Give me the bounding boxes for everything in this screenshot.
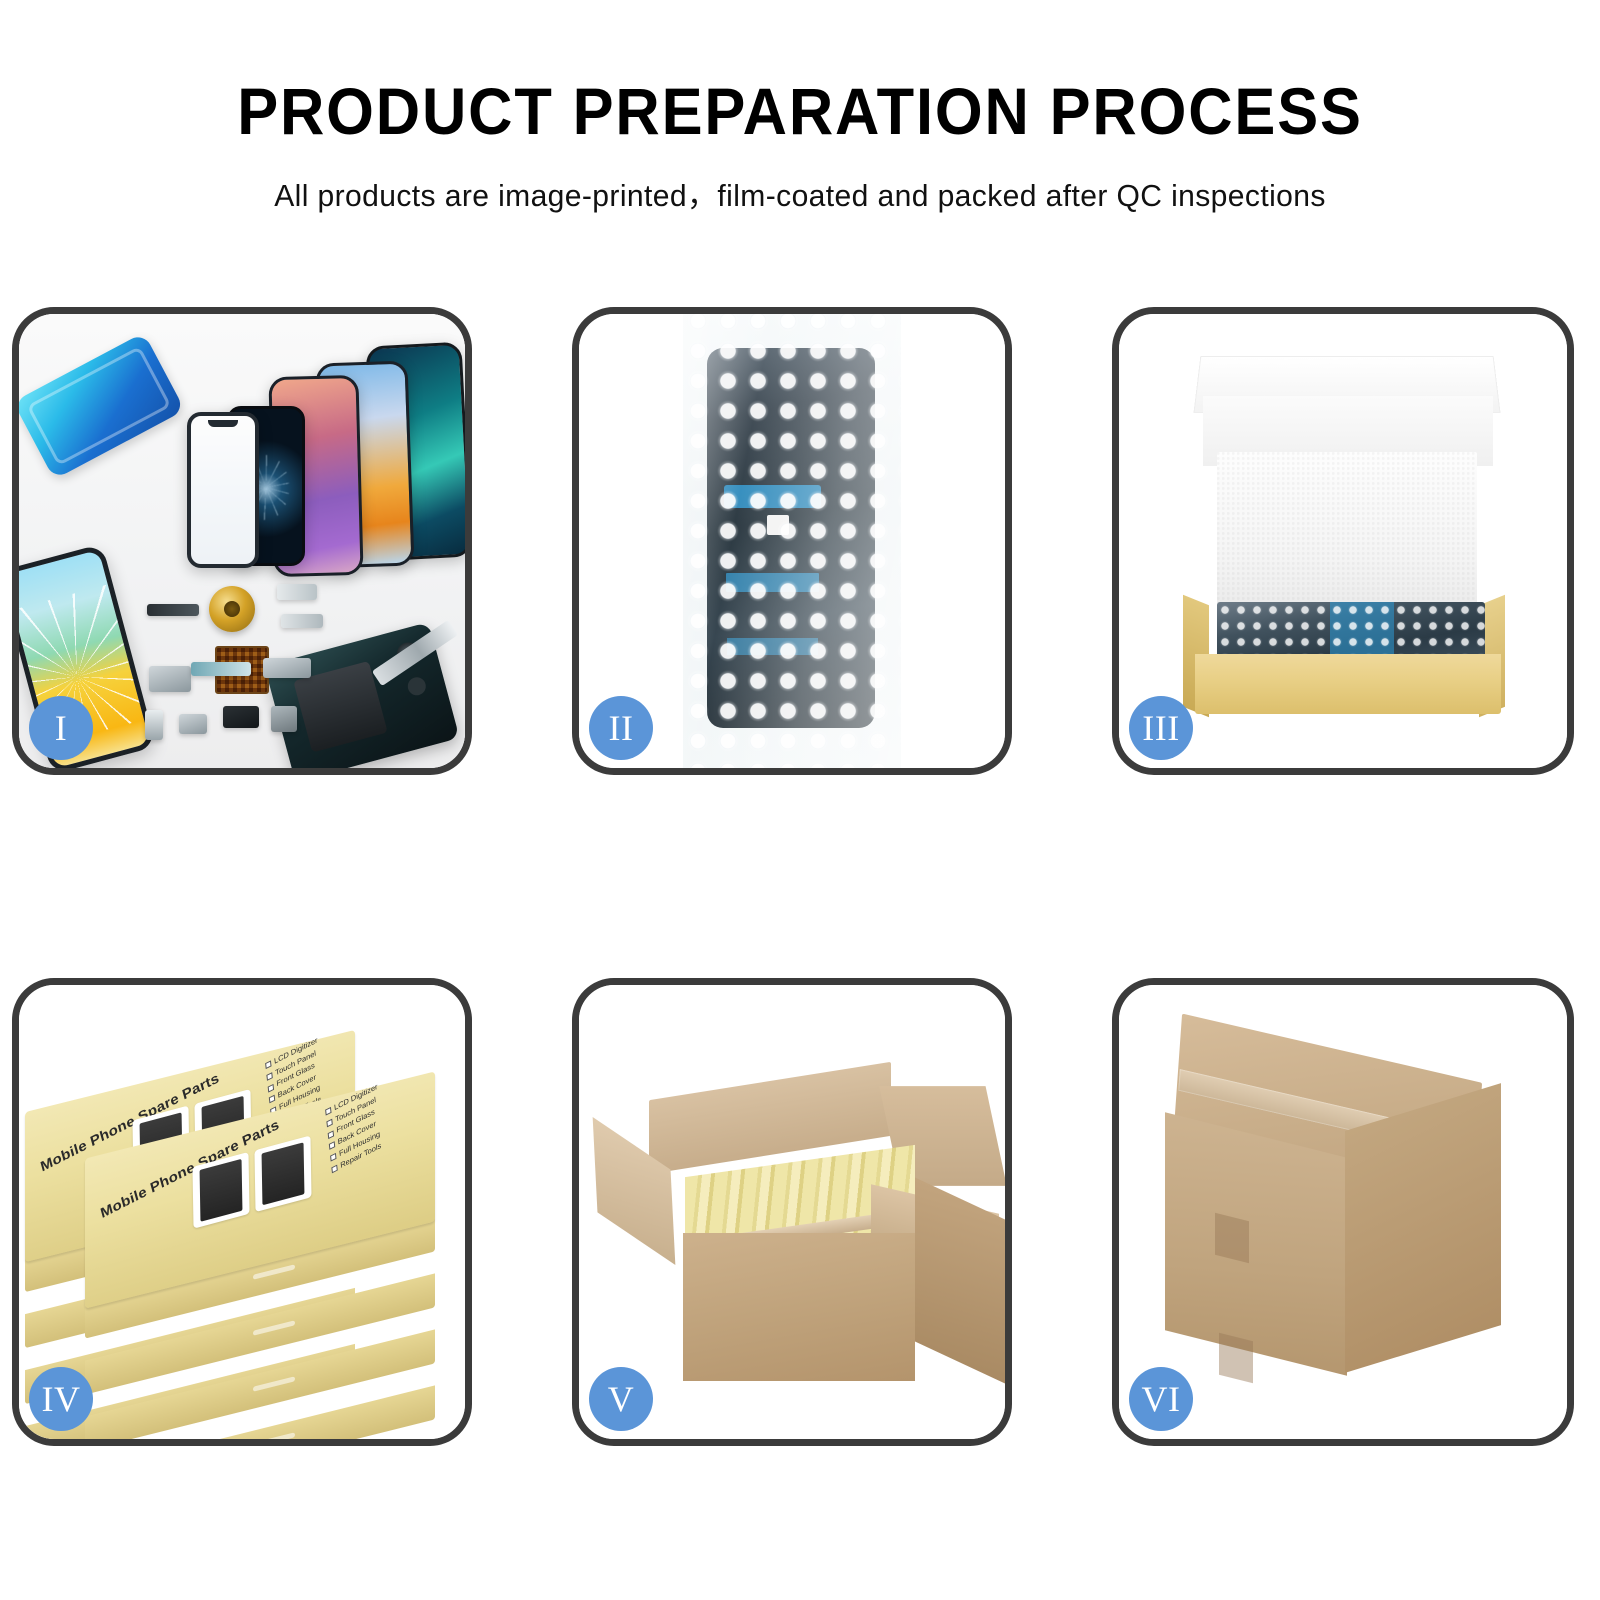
- stacked-retail-boxes-photo: Mobile Phone Spare Parts LCD Digitizer T…: [19, 985, 465, 1439]
- box-front-wall: [1195, 654, 1501, 714]
- step-badge-1: I: [29, 696, 93, 760]
- retail-box-checklist: LCD Digitizer Touch Panel Front Glass Ba…: [325, 1083, 385, 1178]
- sim-tray-part: [145, 710, 163, 740]
- step-badge-3: III: [1129, 696, 1193, 760]
- sealed-carton-side-face: [1345, 1083, 1501, 1373]
- carton-handle-tab: [1215, 1213, 1249, 1263]
- bubble-wrap-package: [683, 314, 901, 768]
- earpiece-speaker-part: [147, 604, 199, 616]
- sealed-carton-front-face: [1165, 1112, 1347, 1375]
- camera-module-part: [223, 706, 259, 728]
- steps-grid: I II: [12, 307, 1588, 1452]
- product-photo-thumbnail: [254, 1135, 311, 1212]
- phone-parts-photo: [19, 314, 465, 768]
- sealed-shipping-carton-photo: [1119, 985, 1567, 1439]
- antenna-flex-part: [191, 662, 251, 676]
- checkbox-icon: [326, 1119, 332, 1128]
- button-flex-part: [277, 584, 317, 600]
- blue-part-highlight: [1330, 602, 1394, 658]
- product-preparation-process-page: PRODUCT PREPARATION PROCESS All products…: [0, 0, 1600, 1600]
- checkbox-icon: [325, 1107, 331, 1116]
- carton-front-face: [683, 1233, 915, 1381]
- step-badge-2: II: [589, 696, 653, 760]
- bubble-wrap-photo: [579, 314, 1005, 768]
- step-card-4[interactable]: Mobile Phone Spare Parts LCD Digitizer T…: [12, 978, 472, 1446]
- volume-flex-part: [281, 614, 323, 628]
- wireless-charging-coil: [209, 586, 255, 632]
- step-badge-6: VI: [1129, 1367, 1193, 1431]
- retail-box-product-photos: [192, 1134, 317, 1229]
- header: PRODUCT PREPARATION PROCESS All products…: [0, 0, 1600, 215]
- page-subtitle: All products are image-printed，film-coat…: [24, 170, 1576, 215]
- step-card-2[interactable]: II: [572, 307, 1012, 775]
- page-title: PRODUCT PREPARATION PROCESS: [56, 78, 1544, 144]
- connector-part: [263, 658, 311, 678]
- open-retail-box-photo: [1119, 314, 1567, 768]
- step-badge-5: V: [589, 1367, 653, 1431]
- checkbox-icon: [330, 1153, 336, 1162]
- checkbox-icon: [328, 1130, 334, 1139]
- carton-handle-tab: [1219, 1333, 1253, 1383]
- speaker-module-part: [271, 706, 297, 732]
- plastic-sheen: [683, 314, 901, 768]
- vibrator-part: [179, 714, 207, 734]
- step-card-1[interactable]: I: [12, 307, 472, 775]
- step-card-3[interactable]: III: [1112, 307, 1574, 775]
- screen-protector-glass: [187, 412, 259, 568]
- flex-cable-part: [149, 666, 191, 692]
- product-photo-thumbnail: [192, 1152, 249, 1229]
- step-card-6[interactable]: VI: [1112, 978, 1574, 1446]
- checkbox-icon: [265, 1061, 271, 1070]
- checkbox-icon: [269, 1095, 275, 1104]
- foam-padding: [1217, 452, 1477, 604]
- checkbox-icon: [268, 1083, 274, 1092]
- carton-side-face: [915, 1178, 1005, 1385]
- step-badge-4: IV: [29, 1367, 93, 1431]
- checkbox-icon: [331, 1164, 337, 1173]
- checkbox-icon: [266, 1072, 272, 1081]
- step-card-5[interactable]: V: [572, 978, 1012, 1446]
- open-shipping-carton-photo: [579, 985, 1005, 1439]
- checkbox-icon: [329, 1141, 335, 1150]
- bubble-wrapped-contents: [1217, 602, 1485, 658]
